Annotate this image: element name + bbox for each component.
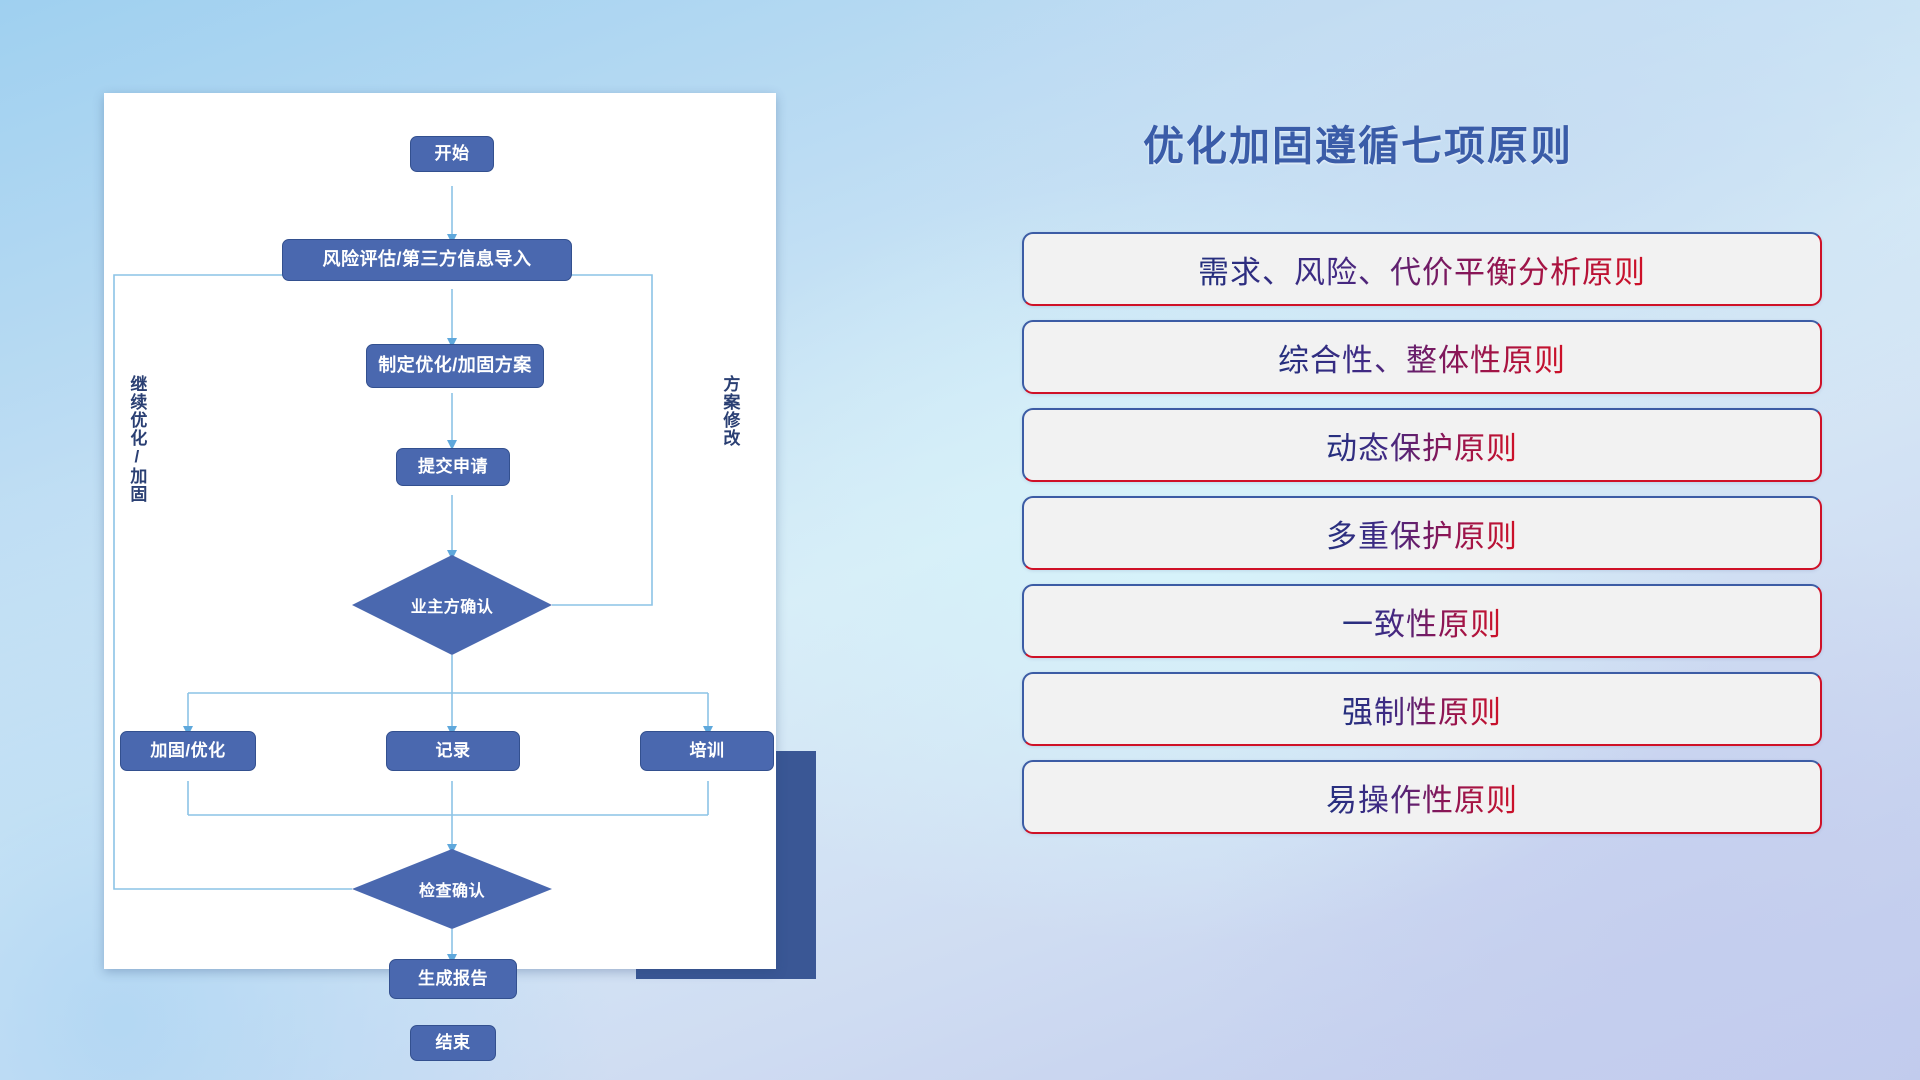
principle-label: 一致性原则 [1342, 599, 1502, 644]
flow-node-reinforce-optimize[interactable]: 加固/优化 [120, 731, 256, 771]
principle-label: 动态保护原则 [1326, 423, 1518, 468]
flow-node-label: 提交申请 [418, 458, 488, 477]
flowchart-diagram: 开始 风险评估/第三方信息导入 制定优化/加固方案 提交申请 业主方确认 加固/… [104, 93, 776, 969]
list-item[interactable]: 多重保护原则 [1022, 496, 1822, 570]
flow-node-label: 检查确认 [419, 877, 485, 901]
flow-node-label: 记录 [436, 742, 471, 761]
principles-list: 需求、风险、代价平衡分析原则 综合性、整体性原则 动态保护原则 多重保护原则 一… [1022, 232, 1822, 848]
flow-node-risk-assessment[interactable]: 风险评估/第三方信息导入 [282, 239, 572, 281]
principle-label: 易操作性原则 [1326, 775, 1518, 820]
flow-node-make-plan[interactable]: 制定优化/加固方案 [366, 344, 544, 388]
flow-node-end[interactable]: 结束 [410, 1025, 496, 1061]
list-item[interactable]: 动态保护原则 [1022, 408, 1822, 482]
list-item[interactable]: 综合性、整体性原则 [1022, 320, 1822, 394]
flow-node-generate-report[interactable]: 生成报告 [389, 959, 517, 999]
list-item[interactable]: 易操作性原则 [1022, 760, 1822, 834]
flow-node-label: 风险评估/第三方信息导入 [323, 250, 532, 270]
slide-canvas: 开始 风险评估/第三方信息导入 制定优化/加固方案 提交申请 业主方确认 加固/… [0, 0, 1920, 1080]
list-item[interactable]: 强制性原则 [1022, 672, 1822, 746]
flowchart-connectors [104, 93, 776, 969]
flow-node-record[interactable]: 记录 [386, 731, 520, 771]
flow-node-label: 业主方确认 [411, 593, 494, 617]
principle-label: 综合性、整体性原则 [1278, 335, 1566, 380]
flow-node-label: 开始 [435, 145, 470, 164]
flow-node-label: 培训 [690, 742, 725, 761]
flowchart-card: 开始 风险评估/第三方信息导入 制定优化/加固方案 提交申请 业主方确认 加固/… [104, 93, 776, 969]
flow-edge-label-right: 方案修改 [721, 375, 738, 485]
principle-label: 需求、风险、代价平衡分析原则 [1198, 247, 1646, 292]
panel-title: 优化加固遵循七项原则 [1018, 112, 1698, 172]
flow-node-training[interactable]: 培训 [640, 731, 774, 771]
flow-node-label: 生成报告 [418, 970, 488, 989]
flow-node-submit-application[interactable]: 提交申请 [396, 448, 510, 486]
flow-node-label: 制定优化/加固方案 [378, 356, 532, 376]
flow-node-label: 结束 [436, 1034, 471, 1053]
flow-edge-label-left: 继续优化/加固 [128, 375, 145, 525]
principle-label: 强制性原则 [1342, 687, 1502, 732]
flow-node-label: 加固/优化 [150, 742, 225, 761]
principle-label: 多重保护原则 [1326, 511, 1518, 556]
flow-node-start[interactable]: 开始 [410, 136, 494, 172]
list-item[interactable]: 一致性原则 [1022, 584, 1822, 658]
list-item[interactable]: 需求、风险、代价平衡分析原则 [1022, 232, 1822, 306]
